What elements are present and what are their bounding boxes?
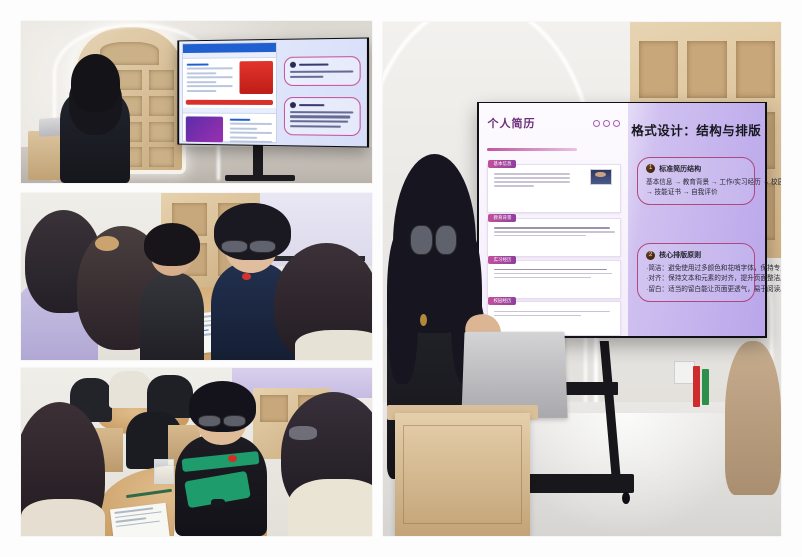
number-badge-1: 1 <box>646 164 655 173</box>
eyeglasses-icon <box>410 225 433 256</box>
tv-screen <box>179 39 366 146</box>
eyeglasses-icon <box>198 415 221 427</box>
photo-students-discussing <box>21 193 372 360</box>
callout-2-title <box>298 103 324 105</box>
podium <box>395 413 530 536</box>
photo-students-worksheet <box>21 368 372 536</box>
presenter-hair-side-left <box>387 231 418 384</box>
eyeglasses-icon <box>221 240 248 254</box>
student-left-body <box>21 499 105 536</box>
section-tag-education: 教育背景 <box>488 214 516 222</box>
website-article-list <box>183 58 236 97</box>
wristwatch <box>211 499 225 507</box>
callout-2-line <box>289 115 350 118</box>
callout-1-title <box>298 63 328 65</box>
eyeglasses-icon <box>249 240 276 254</box>
section-tag-campus: 校园经历 <box>488 297 516 305</box>
block-2-line-3: ·留白：适当的留白能让页面更透气，易于阅读。 <box>646 285 746 295</box>
lapel-pin <box>228 455 236 462</box>
tv-stand-base <box>225 175 295 181</box>
number-badge-2: 2 <box>646 251 655 260</box>
bullet-icon <box>289 62 295 68</box>
slide-title: 格式设计：结构与排版 <box>628 120 766 139</box>
student-c-body <box>140 273 203 360</box>
website-mock <box>182 42 277 142</box>
block-2-line-1: ·简洁：避免使用过多颜色和花哨字体，保持专业性。 <box>646 264 746 274</box>
bg-student-2 <box>109 371 151 408</box>
slide-resume-preview: 个人简历 基本信息 <box>479 103 628 336</box>
block-1-heading: 标准简历结构 <box>659 164 701 174</box>
block-1-line-1: 基本信息 → 教育背景 → 工作/实习经历 → 校园经历 <box>646 178 746 188</box>
tv-stand-pole <box>253 144 264 176</box>
callout-2-line <box>289 111 352 114</box>
power-plug-red <box>693 366 699 407</box>
caster-wheel <box>622 492 630 504</box>
slide-block-principles: 2 核心排版原则 ·简洁：避免使用过多颜色和花哨字体，保持专业性。 ·对齐：保持… <box>637 243 755 302</box>
lounge-chair <box>725 341 781 495</box>
eyeglasses-icon <box>435 225 458 256</box>
student-c-hair <box>144 223 200 266</box>
slide-block-structure: 1 标准简历结构 基本信息 → 教育背景 → 工作/实习经历 → 校园经历 → … <box>637 157 755 205</box>
website-promo-card <box>186 116 223 141</box>
website-banner-ad <box>239 61 273 94</box>
callout-1-line <box>289 75 322 77</box>
block-2-line-2: ·对齐：保持文本和元素的对齐，提升页面整洁度。 <box>646 274 746 284</box>
block-1-line-2: → 技能证书 → 自我评价 <box>646 188 746 198</box>
slide-dots-decoration <box>593 120 620 127</box>
section-tag-internship: 实习经历 <box>488 256 516 264</box>
podium-panel <box>403 425 522 524</box>
tv-display <box>177 37 369 147</box>
worksheet-left <box>110 502 170 536</box>
eyeglasses-icon <box>288 425 318 440</box>
tv-screen: 个人简历 基本信息 <box>479 103 765 336</box>
power-plug-green <box>702 369 708 405</box>
callout-2-line <box>289 125 341 128</box>
slide-format-design: 格式设计：结构与排版 1 标准简历结构 基本信息 → 教育背景 → 工作/实习经… <box>628 103 766 336</box>
plastic-cup <box>154 459 174 485</box>
block-2-heading: 核心排版原则 <box>659 250 701 260</box>
resume-section-education: 教育背景 <box>487 218 620 257</box>
website-red-strip <box>186 100 273 105</box>
section-tag-basic: 基本信息 <box>488 160 516 168</box>
bullet-icon <box>289 101 295 107</box>
callout-1-line <box>289 70 352 73</box>
photo-presenter-resume-slide: 个人简历 基本信息 <box>383 22 781 536</box>
tv-display: 个人简历 基本信息 <box>477 102 768 338</box>
resume-section-internship: 实习经历 <box>487 260 620 299</box>
callout-2-line <box>289 120 347 123</box>
photo-presenter-website <box>21 21 372 183</box>
lapel-pin <box>242 273 250 280</box>
website-link-list <box>225 114 276 146</box>
resume-title: 个人简历 <box>487 115 535 131</box>
presenter <box>60 57 130 183</box>
photo-collage: 个人简历 基本信息 <box>0 0 802 557</box>
eyeglasses-icon <box>223 415 246 427</box>
title-underline <box>487 148 576 151</box>
student-right-body <box>288 479 372 536</box>
resume-id-photo <box>590 169 612 185</box>
wall-socket <box>674 361 696 384</box>
student-e-body <box>295 330 372 360</box>
resume-section-basic: 基本信息 <box>487 164 620 213</box>
callout-bubble-1 <box>283 56 360 85</box>
callout-bubble-2 <box>283 96 360 135</box>
